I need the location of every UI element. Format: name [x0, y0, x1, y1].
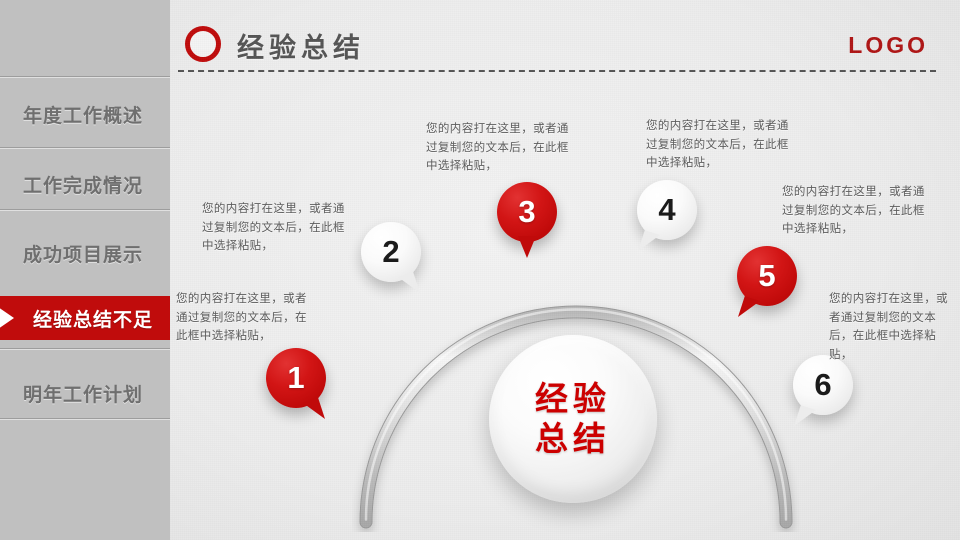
sidebar-item-successful-projects[interactable]: 成功项目展示: [0, 231, 170, 275]
sidebar-item-label: 经验总结不足: [0, 305, 170, 332]
bubble-marker-5[interactable]: 5: [737, 246, 797, 306]
sidebar-divider: [0, 147, 170, 148]
sidebar-divider: [0, 348, 170, 349]
bubble-number-2: 2: [382, 234, 399, 270]
bubble-marker-1[interactable]: 1: [266, 348, 326, 408]
logo: LOGO: [848, 32, 928, 59]
callout-text-5: 您的内容打在这里，或者通过复制您的文本后，在此框中选择粘贴，: [782, 183, 936, 239]
center-node-line-2: 总结: [535, 419, 611, 459]
sidebar-nav: 年度工作概述 工作完成情况 成功项目展示 经验总结不足 明年工作计划: [0, 0, 170, 540]
sidebar-item-label: 成功项目展示: [0, 240, 170, 267]
bubble-number-1: 1: [287, 360, 304, 396]
callout-text-1: 您的内容打在这里，或者通过复制您的文本后，在此框中选择粘贴，: [176, 290, 318, 346]
callout-text-2: 您的内容打在这里，或者通过复制您的文本后，在此框中选择粘贴，: [202, 200, 354, 256]
sidebar-divider: [0, 209, 170, 210]
center-node-line-1: 经验: [535, 379, 611, 419]
sidebar-item-work-completion[interactable]: 工作完成情况: [0, 162, 170, 206]
sidebar-divider: [0, 418, 170, 419]
bubble-marker-3[interactable]: 3: [497, 182, 557, 242]
center-node-experience-summary: 经验 总结: [489, 335, 657, 503]
callout-text-6: 您的内容打在这里，或者通过复制您的文本后，在此框中选择粘贴，: [829, 290, 949, 365]
arrow-right-icon: [0, 307, 14, 329]
sidebar-divider: [0, 76, 170, 77]
bubble-tail-3: [518, 236, 536, 258]
circle-outline-icon: [185, 26, 221, 62]
bubble-marker-4[interactable]: 4: [637, 180, 697, 240]
bubble-tail-1: [303, 398, 325, 424]
bubble-number-4: 4: [658, 192, 675, 228]
bubble-number-5: 5: [758, 258, 775, 294]
slide-canvas: 经验 总结 1 2 3 4 5 6 您的内容打在这里，或者通过复制您的文本后，在…: [0, 0, 960, 540]
bubble-marker-2[interactable]: 2: [361, 222, 421, 282]
bubble-tail-4: [638, 230, 660, 256]
callout-text-3: 您的内容打在这里，或者通过复制您的文本后，在此框中选择粘贴，: [426, 120, 580, 176]
page-title: 经验总结: [237, 26, 365, 65]
sidebar-item-label: 工作完成情况: [0, 171, 170, 198]
header-divider: [178, 70, 936, 72]
sidebar-item-next-year-plan[interactable]: 明年工作计划: [0, 371, 170, 415]
bubble-number-3: 3: [518, 194, 535, 230]
sidebar-item-label: 明年工作计划: [0, 380, 170, 407]
sidebar-item-experience-summary[interactable]: 经验总结不足: [0, 296, 170, 340]
callout-text-4: 您的内容打在这里，或者通过复制您的文本后，在此框中选择粘贴，: [646, 117, 800, 173]
sidebar-item-annual-work-overview[interactable]: 年度工作概述: [0, 92, 170, 136]
sidebar-item-label: 年度工作概述: [0, 101, 170, 128]
bubble-number-6: 6: [814, 367, 831, 403]
